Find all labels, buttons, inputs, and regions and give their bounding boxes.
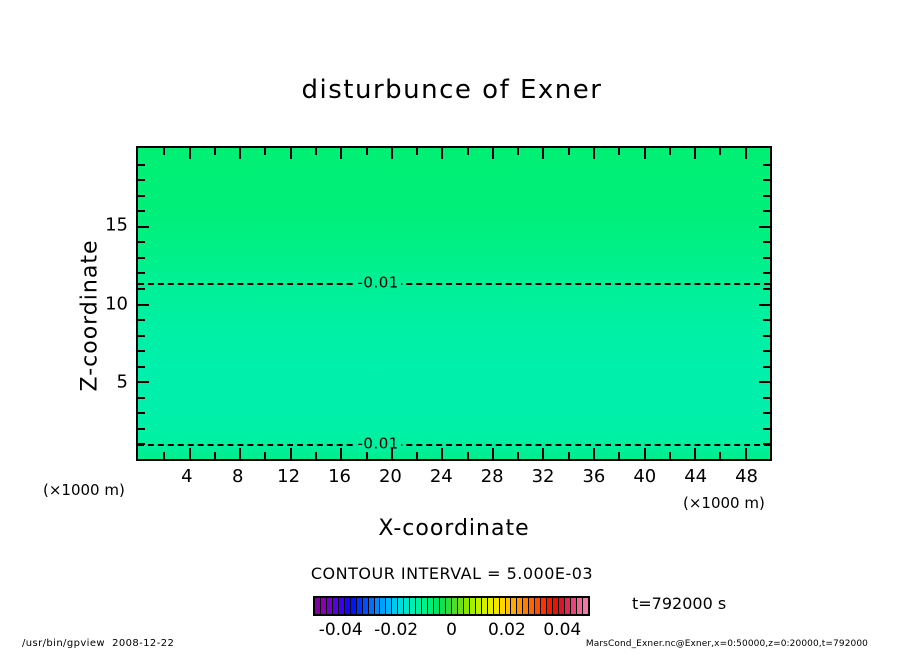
x-axis-tick-top	[492, 148, 494, 159]
y-axis-tick-right	[763, 257, 770, 259]
x-axis-tick-top	[391, 148, 393, 159]
x-axis-tick	[745, 448, 747, 459]
x-axis-tick	[694, 448, 696, 459]
x-axis-tick-top	[644, 148, 646, 159]
colorbar-swatch	[440, 598, 445, 614]
y-axis-tick-right	[763, 443, 770, 445]
x-axis-tick-label: 40	[633, 466, 656, 487]
colorbar-swatch	[500, 598, 505, 614]
x-axis-tick-top	[517, 148, 519, 155]
y-axis-tick-right	[763, 366, 770, 368]
colorbar-swatch	[375, 598, 380, 614]
x-axis-unit-left: (×1000 m)	[43, 481, 125, 499]
colorbar-swatch	[452, 598, 457, 614]
colorbar-swatch	[380, 598, 385, 614]
x-axis-tick-label: 32	[532, 466, 555, 487]
footer-dataset-source: MarsCond_Exner.nc@Exner,x=0:50000,z=0:20…	[586, 639, 868, 649]
x-axis-tick-top	[593, 148, 595, 159]
x-axis-tick	[719, 452, 721, 459]
y-axis-tick	[138, 397, 145, 399]
y-axis-tick	[138, 335, 145, 337]
y-axis-tick	[138, 179, 145, 181]
x-axis-tick	[593, 448, 595, 459]
colorbar-swatch	[386, 598, 391, 614]
colorbar-swatch	[369, 598, 374, 614]
y-axis-tick-right	[763, 164, 770, 166]
x-axis-tick-label: 8	[232, 466, 243, 487]
colorbar-swatch	[363, 598, 368, 614]
colorbar-swatch	[410, 598, 415, 614]
colorbar-swatch	[458, 598, 463, 614]
y-axis-tick-label: 10	[105, 293, 128, 314]
x-axis-tick	[340, 448, 342, 459]
colorbar-tick-label: -0.04	[319, 620, 363, 640]
y-axis-tick-right	[759, 381, 770, 383]
x-axis-tick-top	[239, 148, 241, 159]
y-axis-tick	[138, 412, 145, 414]
colorbar-swatch	[404, 598, 409, 614]
colorbar-swatch	[345, 598, 350, 614]
x-axis-tick	[492, 448, 494, 459]
y-axis-tick	[138, 381, 149, 383]
y-axis-tick-label: 15	[105, 214, 128, 235]
colorbar-tick-label: 0.02	[488, 620, 526, 640]
y-axis-tick	[138, 443, 145, 445]
x-axis-tick	[618, 452, 620, 459]
x-axis-tick-top	[441, 148, 443, 159]
x-axis-title: X-coordinate	[136, 516, 772, 541]
colorbar-swatch	[541, 598, 546, 614]
heatmap-field	[138, 148, 770, 459]
x-axis-tick	[264, 452, 266, 459]
y-axis-tick-right	[763, 195, 770, 197]
x-axis-tick	[644, 448, 646, 459]
y-axis-tick-right	[763, 428, 770, 430]
x-axis-tick-label: 24	[430, 466, 453, 487]
x-axis-tick	[391, 448, 393, 459]
y-axis-tick	[138, 428, 145, 430]
x-axis-tick-top	[163, 148, 165, 155]
x-axis-tick-top	[214, 148, 216, 155]
colorbar-swatch	[351, 598, 356, 614]
y-axis-tick-right	[763, 350, 770, 352]
x-axis-tick-top	[416, 148, 418, 155]
y-axis-tick	[138, 210, 145, 212]
colorbar-swatch	[577, 598, 582, 614]
y-axis-tick-right	[763, 241, 770, 243]
contour-label: -0.01	[355, 275, 402, 290]
footer-command: /usr/bin/gpview 2008-12-22	[22, 638, 174, 649]
colorbar-swatch	[565, 598, 570, 614]
x-axis-tick-top	[694, 148, 696, 159]
plot-area: -0.01-0.01	[136, 146, 772, 461]
y-axis-tick	[138, 350, 145, 352]
y-axis-tick-right	[763, 335, 770, 337]
colorbar	[313, 596, 590, 616]
colorbar-swatch	[529, 598, 534, 614]
plot-canvas: disturbunce of Exner -0.01-0.01 48121620…	[0, 0, 904, 654]
colorbar-swatch	[315, 598, 320, 614]
colorbar-swatch	[476, 598, 481, 614]
x-axis-tick-top	[340, 148, 342, 159]
x-axis-tick	[366, 452, 368, 459]
y-axis-tick	[138, 241, 145, 243]
y-axis-tick	[138, 319, 145, 321]
y-axis-tick	[138, 272, 145, 274]
y-axis-tick	[138, 164, 145, 166]
x-axis-tick	[467, 452, 469, 459]
y-axis-tick	[138, 257, 145, 259]
x-axis-unit-right: (×1000 m)	[683, 494, 765, 512]
contour-label: -0.01	[355, 437, 402, 452]
colorbar-swatch	[398, 598, 403, 614]
colorbar-swatch	[571, 598, 576, 614]
x-axis-tick-label: 12	[277, 466, 300, 487]
y-axis-tick-right	[763, 210, 770, 212]
x-axis-tick-top	[366, 148, 368, 155]
colorbar-swatch	[446, 598, 451, 614]
colorbar-swatch	[517, 598, 522, 614]
y-axis-title: Z-coordinate	[78, 206, 103, 426]
x-axis-tick	[290, 448, 292, 459]
x-axis-tick	[189, 448, 191, 459]
colorbar-swatch	[547, 598, 552, 614]
x-axis-tick	[669, 452, 671, 459]
colorbar-swatch	[559, 598, 564, 614]
colorbar-tick-label: 0.04	[543, 620, 581, 640]
colorbar-swatch	[583, 598, 588, 614]
x-axis-tick-top	[467, 148, 469, 155]
y-axis-tick	[138, 366, 145, 368]
x-axis-tick-label: 48	[735, 466, 758, 487]
x-axis-tick-label: 16	[328, 466, 351, 487]
colorbar-swatch	[494, 598, 499, 614]
x-axis-tick	[315, 452, 317, 459]
x-axis-tick-top	[618, 148, 620, 155]
x-axis-tick	[416, 452, 418, 459]
x-axis-tick-top	[745, 148, 747, 159]
contour-line	[138, 444, 770, 446]
y-axis-tick	[138, 195, 145, 197]
page-title: disturbunce of Exner	[0, 75, 904, 105]
x-axis-tick-top	[542, 148, 544, 159]
x-axis-tick-top	[264, 148, 266, 155]
colorbar-swatch	[357, 598, 362, 614]
colorbar-swatch	[321, 598, 326, 614]
x-axis-tick-label: 28	[481, 466, 504, 487]
colorbar-swatch	[339, 598, 344, 614]
y-axis-tick	[138, 226, 149, 228]
colorbar-tick-label: 0	[446, 620, 457, 640]
colorbar-swatch	[416, 598, 421, 614]
colorbar-swatch	[422, 598, 427, 614]
colorbar-swatch	[506, 598, 511, 614]
x-axis-tick	[568, 452, 570, 459]
x-axis-tick-label: 36	[582, 466, 605, 487]
colorbar-swatch	[333, 598, 338, 614]
x-axis-tick	[163, 452, 165, 459]
colorbar-swatch	[535, 598, 540, 614]
y-axis-tick-right	[763, 412, 770, 414]
x-axis-tick-top	[189, 148, 191, 159]
x-axis-tick	[517, 452, 519, 459]
time-annotation: t=792000 s	[632, 594, 726, 613]
x-axis-tick	[542, 448, 544, 459]
x-axis-tick	[214, 452, 216, 459]
colorbar-swatch	[553, 598, 558, 614]
x-axis-tick-label: 20	[379, 466, 402, 487]
contour-line	[138, 283, 770, 285]
x-axis-tick-label: 4	[181, 466, 192, 487]
y-axis-tick-right	[763, 319, 770, 321]
colorbar-swatch	[434, 598, 439, 614]
colorbar-swatch	[470, 598, 475, 614]
x-axis-tick-top	[568, 148, 570, 155]
x-axis-tick-label: 44	[684, 466, 707, 487]
colorbar-swatch	[428, 598, 433, 614]
y-axis-tick-right	[759, 304, 770, 306]
x-axis-tick	[239, 448, 241, 459]
x-axis-tick-top	[290, 148, 292, 159]
contour-interval-caption: CONTOUR INTERVAL = 5.000E-03	[0, 564, 904, 583]
y-axis-tick-label: 5	[117, 372, 128, 393]
y-axis-tick	[138, 288, 145, 290]
colorbar-swatch	[511, 598, 516, 614]
colorbar-tick-label: -0.02	[374, 620, 418, 640]
colorbar-swatch	[488, 598, 493, 614]
x-axis-tick	[441, 448, 443, 459]
x-axis-tick-top	[669, 148, 671, 155]
colorbar-swatch	[523, 598, 528, 614]
x-axis-tick-top	[719, 148, 721, 155]
x-axis-tick-top	[315, 148, 317, 155]
y-axis-tick-right	[759, 226, 770, 228]
y-axis-tick-right	[763, 272, 770, 274]
y-axis-tick-right	[763, 397, 770, 399]
colorbar-swatch	[464, 598, 469, 614]
colorbar-swatch	[327, 598, 332, 614]
colorbar-swatch	[392, 598, 397, 614]
y-axis-tick-right	[763, 179, 770, 181]
y-axis-tick	[138, 304, 149, 306]
y-axis-tick-right	[763, 288, 770, 290]
colorbar-swatch	[482, 598, 487, 614]
